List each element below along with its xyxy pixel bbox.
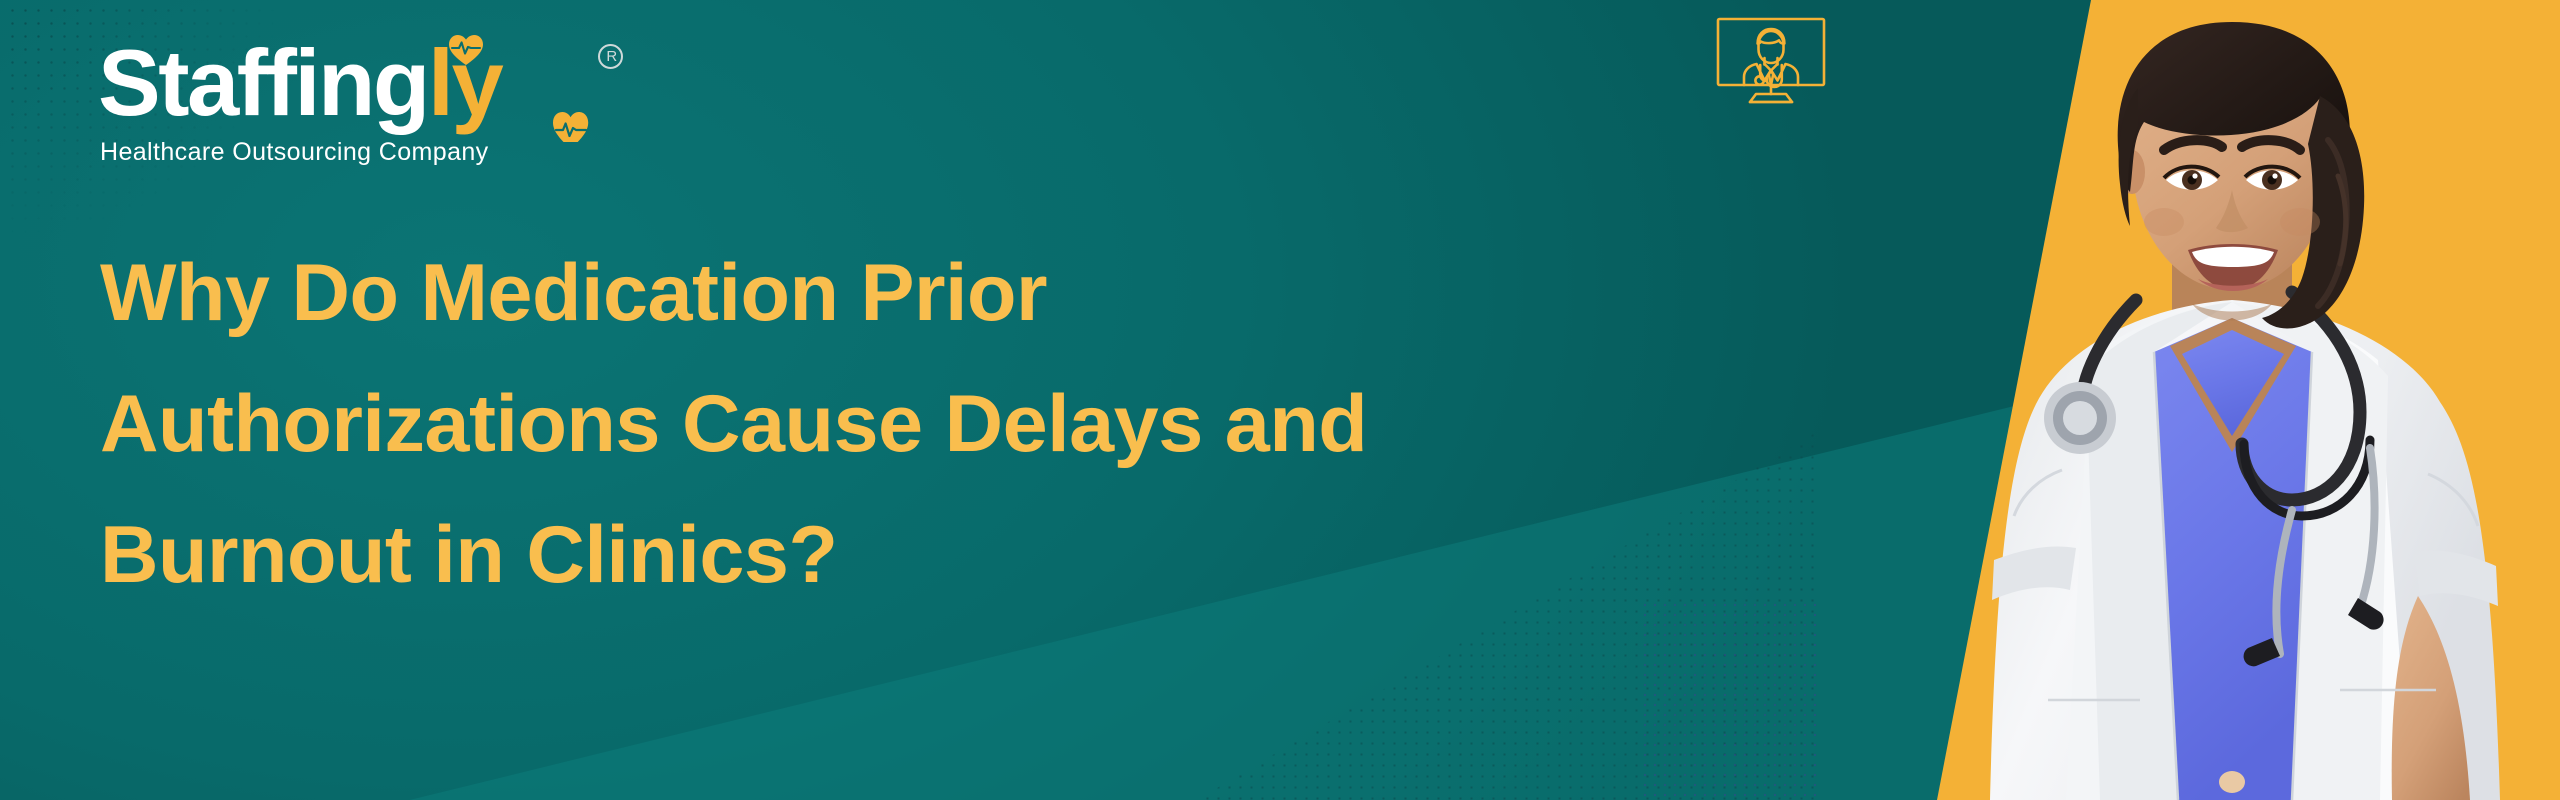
dot-pattern-bottom-left-of-diagonal [1640,600,1820,800]
registered-trademark-icon: R [598,44,623,69]
logo-wordmark: Staffingly R [98,36,678,130]
hero-banner: Staffingly R Healthcare Outsourcing Comp… [0,0,2560,800]
telemedicine-monitor-doctor-icon [1712,14,1830,116]
smiling-female-doctor-photo [1940,0,2560,800]
headline-line-3: Burnout in Clinics? [100,490,1660,621]
headline-line-2: Authorizations Cause Delays and [100,359,1660,490]
staffingly-logo[interactable]: Staffingly R Healthcare Outsourcing Comp… [98,36,678,158]
logo-brand-primary: Staffing [98,30,428,135]
logo-tagline: Healthcare Outsourcing Company [100,138,489,167]
heart-pulse-icon [550,110,592,146]
page-title: Why Do Medication Prior Authorizations C… [100,228,1660,621]
heart-pulse-icon [448,34,484,66]
headline-line-1: Why Do Medication Prior [100,228,1660,359]
